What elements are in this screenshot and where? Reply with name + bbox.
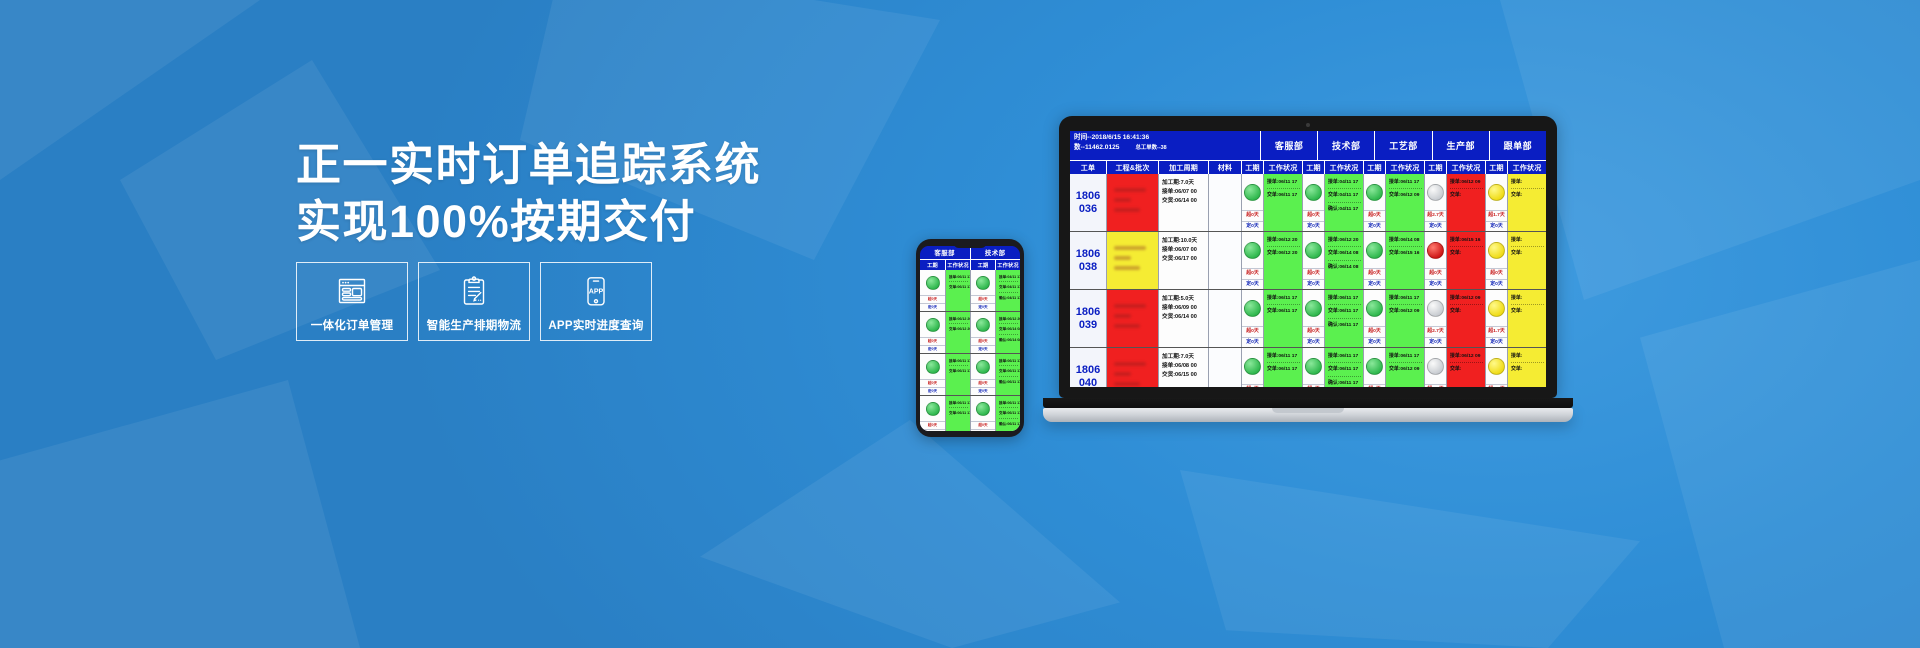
overdue-label: 超0天 [920, 421, 945, 429]
overdue-label: 超0天 [920, 337, 945, 345]
cycle-line: 交货:06/14 00 [1162, 313, 1206, 322]
dept-header-gendan[interactable]: 跟单部 [1489, 131, 1546, 160]
status-cell-生产部[interactable]: 接单:06/15 16交单: [1446, 232, 1485, 289]
material-cell[interactable] [1208, 232, 1241, 289]
duration-cell-客服部[interactable]: 超0天定0天 [1241, 232, 1263, 289]
col-header-status-3[interactable]: 工作状况 [1385, 161, 1424, 174]
order-number-bottom: 038 [1079, 261, 1097, 273]
status-line: 接单:06/12 20 [949, 316, 968, 324]
duration-cell-生产部[interactable]: 超2.7天定0天 [1424, 290, 1446, 347]
duration-cell-工艺部[interactable]: 超0天定0天 [1363, 290, 1385, 347]
status-line: 接单:06/12 20 [1328, 236, 1361, 247]
status-line: 接单:06/14 08 [1389, 236, 1422, 247]
phone-col-status-2: 工作状况 [995, 260, 1020, 270]
phone-col-gongqi-2: 工期 [970, 260, 995, 270]
overdue-label: 超0天 [971, 295, 995, 303]
status-line: 接单:06/11 17 [949, 358, 968, 366]
status-dot-green [1244, 358, 1261, 375]
processing-cycle-cell[interactable]: 加工期:10.0天接单:06/07 00交货:06/17 00 [1158, 232, 1208, 289]
status-line: 接单:06/15 16 [1450, 236, 1483, 247]
status-line: 接单:06/11 17 [1267, 352, 1300, 363]
cycle-line: 加工期:7.0天 [1162, 353, 1206, 362]
fixed-days-label: 定0天 [1242, 279, 1263, 289]
erp-topbar: 时间--2018/6/15 16:41:36 数--11462.0125 总工单… [1070, 131, 1546, 160]
phone-col-gongqi-1: 工期 [920, 260, 945, 270]
col-header-duration-1[interactable]: 工期 [1241, 161, 1263, 174]
overdue-label: 超0天 [1364, 268, 1385, 278]
status-cell-生产部[interactable]: 接单:06/12 09交单: [1446, 174, 1485, 231]
status-dot-green [976, 318, 990, 332]
dept-header-shengchan[interactable]: 生产部 [1432, 131, 1489, 160]
fixed-days-label: 定0天 [1364, 337, 1385, 347]
fixed-days-label: 定0天 [920, 303, 945, 311]
status-line: 交单:06/12 09 [1389, 191, 1422, 201]
status-line: 接单:06/11 17 [1389, 178, 1422, 189]
webcam-icon [1306, 123, 1310, 127]
status-line: 接单: [1511, 352, 1544, 363]
status-dot-green [976, 360, 990, 374]
status-line: 交单: [1511, 249, 1544, 259]
status-line: 接单:06/12 20 [1267, 236, 1300, 247]
overdue-label: 超0天 [920, 379, 945, 387]
status-line: 交单: [1450, 191, 1483, 201]
project-text-redacted [1114, 382, 1140, 386]
status-cell-跟单部[interactable]: 接单:交单: [1507, 232, 1546, 289]
status-dot-green [1366, 300, 1383, 317]
overdue-label: 超2.7天 [1425, 210, 1446, 220]
material-cell[interactable] [1208, 290, 1241, 347]
laptop-mockup: 时间--2018/6/15 16:41:36 数--11462.0125 总工单… [1043, 116, 1573, 422]
table-row[interactable]: 1806038加工期:10.0天接单:06/07 00交货:06/17 00超0… [1070, 232, 1546, 290]
status-line: 接单:06/12 09 [1450, 294, 1483, 305]
status-cell-跟单部[interactable]: 接单:交单: [1507, 174, 1546, 231]
status-line: 接单:04/11 17 [999, 274, 1018, 282]
overdue-label: 超0天 [1303, 326, 1324, 336]
status-dot-green [926, 318, 940, 332]
project-text-redacted [1114, 198, 1131, 202]
status-line: 交单:06/12 20 [949, 326, 968, 333]
dept-header-kefu[interactable]: 客服部 [1260, 131, 1317, 160]
laptop-trackpad-notch [1272, 408, 1344, 413]
project-text-redacted [1114, 372, 1131, 376]
status-cell-客服部[interactable]: 接单:06/11 17交单:06/11 17 [1263, 290, 1302, 347]
fixed-days-label: 定0天 [1425, 279, 1446, 289]
duration-cell-工艺部[interactable]: 超0天定1天 [1363, 348, 1385, 387]
status-line: 确认:04/11 17 [999, 295, 1018, 302]
status-cell-技术部[interactable]: 接单:04/11 17交单:04/11 17确认:04/11 17 [995, 270, 1020, 311]
status-dot-green [926, 402, 940, 416]
status-dot-green [1366, 184, 1383, 201]
status-cell-工艺部[interactable]: 接单:06/11 17交单:06/12 09 [1385, 174, 1424, 231]
material-cell[interactable] [1208, 174, 1241, 231]
duration-cell-技术部[interactable]: 超0天定0天 [1302, 174, 1324, 231]
order-number-bottom: 039 [1079, 319, 1097, 331]
fixed-days-label: 定0天 [971, 303, 995, 311]
status-dot-gray [1427, 358, 1444, 375]
processing-cycle-cell[interactable]: 加工期:7.0天接单:06/08 00交货:06/15 00 [1158, 348, 1208, 387]
status-line: 交单:06/11 17 [1328, 307, 1361, 318]
project-batch-cell[interactable] [1106, 348, 1158, 387]
status-line: 接单:06/11 17 [1389, 294, 1422, 305]
fixed-days-label: 定0天 [971, 387, 995, 395]
fixed-days-label: 定0天 [1486, 279, 1507, 289]
status-dot-green [1305, 184, 1322, 201]
status-line: 接单:04/11 17 [1328, 178, 1361, 189]
status-line: 接单:06/12 09 [1450, 352, 1483, 363]
table-row[interactable]: 1806040加工期:7.0天接单:06/08 00交货:06/15 00超0天… [1070, 348, 1546, 387]
project-text-redacted [1114, 362, 1146, 366]
status-line: 确认:06/14 08 [1328, 263, 1361, 273]
status-line: 确认:06/11 17 [1328, 321, 1361, 331]
duration-cell-技术部[interactable]: 超0天定0天 [1302, 290, 1324, 347]
overdue-label: 超0天 [1364, 384, 1385, 387]
erp-meta: 时间--2018/6/15 16:41:36 数--11462.0125 总工单… [1070, 131, 1260, 160]
fixed-days-label: 定0天 [1242, 337, 1263, 347]
cycle-line: 加工期:7.0天 [1162, 179, 1206, 188]
status-line: 交单:06/11 17 [1267, 307, 1300, 317]
overdue-label: 超0天 [971, 337, 995, 345]
status-cell-技术部[interactable]: 接单:06/11 17交单:06/11 17确认:06/11 17 [995, 354, 1020, 395]
status-dot-green [926, 276, 940, 290]
fixed-days-label: 定0天 [1364, 279, 1385, 289]
fixed-days-label: 定0天 [1242, 221, 1263, 231]
status-cell-客服部[interactable]: 接单:06/11 17交单:06/11 17 [945, 396, 970, 431]
overdue-label: 超1.7天 [1486, 210, 1507, 220]
status-line: 交单:06/11 17 [949, 410, 968, 417]
status-cell-技术部[interactable]: 接单:06/11 17交单:06/11 17确认:06/11 17 [1324, 290, 1363, 347]
erp-department-headers: 客服部 技术部 工艺部 生产部 跟单部 [1260, 131, 1546, 160]
col-header-duration-3[interactable]: 工期 [1363, 161, 1385, 174]
duration-cell-技术部[interactable]: 超0天定4天 [1302, 348, 1324, 387]
duration-cell-跟单部[interactable]: 超0天定0天 [1485, 232, 1507, 289]
overdue-label: 超0天 [1303, 384, 1324, 387]
status-line: 交单:06/14 08 [1328, 249, 1361, 260]
overdue-label: 超1.7天 [1486, 326, 1507, 336]
erp-number-label: 数--11462.0125 [1074, 143, 1119, 153]
fixed-days-label: 定0天 [920, 387, 945, 395]
erp-time-label: 时间--2018/6/15 16:41:36 [1074, 133, 1257, 143]
phone-table-body[interactable]: 超0天定0天接单:06/11 17交单:06/11 17超0天定0天接单:04/… [920, 270, 1020, 431]
status-line: 确认:04/11 17 [1328, 205, 1361, 215]
project-text-redacted [1114, 246, 1146, 250]
status-line: 接单:06/11 17 [999, 358, 1018, 366]
status-cell-生产部[interactable]: 接单:06/12 09交单: [1446, 348, 1485, 387]
status-cell-生产部[interactable]: 接单:06/12 09交单: [1446, 290, 1485, 347]
device-mockups: 客服部 技术部 工期 工作状况 工期 工作状况 超0天定0天接单:06/11 1… [0, 0, 1920, 648]
laptop-lid: 时间--2018/6/15 16:41:36 数--11462.0125 总工单… [1059, 116, 1557, 398]
status-line: 交单: [1511, 191, 1544, 201]
col-header-material[interactable]: 材料 [1208, 161, 1241, 174]
order-number-cell[interactable]: 1806038 [1070, 232, 1106, 289]
status-cell-跟单部[interactable]: 接单:交单: [1507, 348, 1546, 387]
cycle-line: 交货:06/17 00 [1162, 255, 1206, 264]
status-line: 交单:06/11 17 [1267, 191, 1300, 201]
phone-table-row[interactable]: 超0天定1天接单:06/11 17交单:06/11 17超0天定4天接单:06/… [920, 396, 1020, 431]
status-line: 交单:06/11 17 [999, 368, 1018, 376]
fixed-days-label: 定1天 [920, 429, 945, 431]
material-cell[interactable] [1208, 348, 1241, 387]
fixed-days-label: 定0天 [1303, 279, 1324, 289]
overdue-label: 超0天 [1303, 268, 1324, 278]
status-dot-green [1305, 242, 1322, 259]
project-batch-cell[interactable] [1106, 290, 1158, 347]
col-header-cycle[interactable]: 加工周期 [1158, 161, 1208, 174]
duration-cell-客服部[interactable]: 超0天定1天 [920, 396, 945, 431]
fixed-days-label: 定0天 [1303, 337, 1324, 347]
order-number-bottom: 036 [1079, 203, 1097, 215]
duration-cell-生产部[interactable]: 超0天定0天 [1424, 232, 1446, 289]
cycle-line: 接单:06/07 00 [1162, 246, 1206, 255]
laptop-base [1043, 408, 1573, 422]
processing-cycle-cell[interactable]: 加工期:5.0天接单:06/09 00交货:06/14 00 [1158, 290, 1208, 347]
status-line: 接单: [1511, 178, 1544, 189]
duration-cell-跟单部[interactable]: 超1.7天定0天 [1485, 290, 1507, 347]
table-row[interactable]: 1806036加工期:7.0天接单:06/07 00交货:06/14 00超0天… [1070, 174, 1546, 232]
overdue-label: 超0天 [1242, 326, 1263, 336]
status-dot-gray [1427, 184, 1444, 201]
status-line: 接单:06/11 17 [949, 400, 968, 408]
dept-header-jishu[interactable]: 技术部 [1317, 131, 1374, 160]
duration-cell-客服部[interactable]: 超0天定1天 [1241, 348, 1263, 387]
promo-banner: 正一实时订单追踪系统 实现100%按期交付 一体化订单管理 [0, 0, 1920, 648]
duration-cell-生产部[interactable]: 超2.7天定0天 [1424, 174, 1446, 231]
overdue-label: 超0天 [971, 379, 995, 387]
col-header-status-2[interactable]: 工作状况 [1324, 161, 1363, 174]
duration-cell-技术部[interactable]: 超0天定0天 [1302, 232, 1324, 289]
status-line: 交单:06/11 17 [1267, 365, 1300, 375]
status-line: 交单:06/11 17 [1328, 365, 1361, 376]
status-line: 确认:06/11 17 [999, 421, 1018, 428]
status-line: 交单:04/11 17 [1328, 191, 1361, 202]
col-header-status-5[interactable]: 工作状况 [1507, 161, 1546, 174]
col-header-duration-5[interactable]: 工期 [1485, 161, 1507, 174]
overdue-label: 超0天 [1364, 326, 1385, 336]
status-dot-green [1305, 300, 1322, 317]
order-number-top: 1806 [1076, 364, 1100, 376]
order-number-top: 1806 [1076, 248, 1100, 260]
status-cell-工艺部[interactable]: 接单:06/11 17交单:06/12 09 [1385, 290, 1424, 347]
overdue-label: 超2.7天 [1425, 326, 1446, 336]
fixed-days-label: 定0天 [1425, 337, 1446, 347]
overdue-label: 超0天 [1364, 210, 1385, 220]
project-batch-cell[interactable] [1106, 174, 1158, 231]
status-dot-green [976, 402, 990, 416]
status-cell-客服部[interactable]: 接单:06/12 20交单:06/12 20 [1263, 232, 1302, 289]
order-number-cell[interactable]: 1806040 [1070, 348, 1106, 387]
status-cell-跟单部[interactable]: 接单:交单: [1507, 290, 1546, 347]
status-dot-green [926, 360, 940, 374]
col-header-project[interactable]: 工程&批次 [1106, 161, 1158, 174]
duration-cell-跟单部[interactable]: 超1.7天定0天 [1485, 174, 1507, 231]
order-number-cell[interactable]: 1806036 [1070, 174, 1106, 231]
cycle-line: 交货:06/14 00 [1162, 197, 1206, 206]
status-line: 接单:06/11 17 [1328, 294, 1361, 305]
overdue-label: 超0天 [1242, 210, 1263, 220]
phone-col-status-1: 工作状况 [945, 260, 970, 270]
status-dot-green [1366, 242, 1383, 259]
table-row[interactable]: 1806039加工期:5.0天接单:06/09 00交货:06/14 00超0天… [1070, 290, 1546, 348]
cycle-line: 加工期:5.0天 [1162, 295, 1206, 304]
col-header-status-1[interactable]: 工作状况 [1263, 161, 1302, 174]
order-number-top: 1806 [1076, 306, 1100, 318]
status-dot-yellow [1488, 242, 1505, 259]
phone-table-row[interactable]: 超0天定0天接单:06/11 17交单:06/11 17超0天定0天接单:04/… [920, 270, 1020, 312]
status-dot-yellow [1488, 184, 1505, 201]
status-line: 接单:06/12 20 [999, 316, 1018, 324]
duration-cell-技术部[interactable]: 超0天定0天 [970, 354, 995, 395]
status-line: 交单:06/12 09 [1389, 365, 1422, 375]
duration-cell-客服部[interactable]: 超0天定0天 [1241, 174, 1263, 231]
status-line: 交单: [1511, 307, 1544, 317]
duration-cell-客服部[interactable]: 超0天定0天 [1241, 290, 1263, 347]
status-line: 交单:04/11 17 [999, 284, 1018, 292]
status-dot-red [1427, 242, 1444, 259]
phone-mockup: 客服部 技术部 工期 工作状况 工期 工作状况 超0天定0天接单:06/11 1… [916, 239, 1024, 437]
status-line: 交单: [1511, 365, 1544, 375]
status-line: 接单:06/11 17 [949, 274, 968, 282]
cycle-line: 接单:06/09 00 [1162, 304, 1206, 313]
project-text-redacted [1114, 266, 1140, 270]
status-line: 交单:06/11 17 [949, 284, 968, 291]
duration-cell-工艺部[interactable]: 超0天定0天 [1363, 232, 1385, 289]
duration-cell-客服部[interactable]: 超0天定0天 [920, 312, 945, 353]
erp-table-body[interactable]: 1806036加工期:7.0天接单:06/07 00交货:06/14 00超0天… [1070, 174, 1546, 387]
status-cell-客服部[interactable]: 接单:06/11 17交单:06/11 17 [945, 354, 970, 395]
project-text-redacted [1114, 256, 1131, 260]
phone-notch [953, 242, 987, 248]
processing-cycle-cell[interactable]: 加工期:7.0天接单:06/07 00交货:06/14 00 [1158, 174, 1208, 231]
status-cell-客服部[interactable]: 接单:06/11 17交单:06/11 17 [945, 270, 970, 311]
status-line: 交单: [1450, 307, 1483, 317]
phone-subheader: 工期 工作状况 工期 工作状况 [920, 259, 1020, 270]
status-cell-技术部[interactable]: 接单:06/11 17交单:06/11 17确认:06/11 17 [1324, 348, 1363, 387]
status-line: 交单:06/11 17 [949, 368, 968, 375]
fixed-days-label: 定0天 [971, 345, 995, 353]
status-line: 交单:06/12 20 [1267, 249, 1300, 259]
cycle-line: 加工期:10.0天 [1162, 237, 1206, 246]
order-number-bottom: 040 [1079, 377, 1097, 388]
overdue-label: 超0天 [1242, 268, 1263, 278]
order-number-cell[interactable]: 1806039 [1070, 290, 1106, 347]
cycle-line: 接单:06/07 00 [1162, 188, 1206, 197]
duration-cell-技术部[interactable]: 超0天定4天 [970, 396, 995, 431]
col-header-duration-4[interactable]: 工期 [1424, 161, 1446, 174]
overdue-label: 超1.7天 [1425, 384, 1446, 387]
order-number-top: 1806 [1076, 190, 1100, 202]
project-text-redacted [1114, 314, 1131, 318]
status-dot-gray [1427, 300, 1444, 317]
status-cell-客服部[interactable]: 接单:06/12 20交单:06/12 20 [945, 312, 970, 353]
project-text-redacted [1114, 304, 1146, 308]
project-text-redacted [1114, 208, 1140, 212]
status-line: 接单:06/12 09 [1450, 178, 1483, 189]
status-line: 接单:06/11 17 [1389, 352, 1422, 363]
status-dot-green [1244, 184, 1261, 201]
status-line: 交单: [1450, 249, 1483, 259]
status-line: 接单: [1511, 236, 1544, 247]
col-header-duration-2[interactable]: 工期 [1302, 161, 1324, 174]
phone-table-row[interactable]: 超0天定0天接单:06/11 17交单:06/11 17超0天定0天接单:06/… [920, 354, 1020, 396]
erp-total-orders-label: 总工单数--38 [1135, 144, 1166, 152]
cycle-line: 接单:06/08 00 [1162, 362, 1206, 371]
col-header-gongdan[interactable]: 工单 [1070, 161, 1106, 174]
status-line: 确认:06/11 17 [999, 379, 1018, 386]
overdue-label: 超0天 [971, 421, 995, 429]
status-dot-yellow [1488, 300, 1505, 317]
duration-cell-生产部[interactable]: 超1.7天定3天 [1424, 348, 1446, 387]
project-batch-cell[interactable] [1106, 232, 1158, 289]
status-line: 接单:06/11 17 [999, 400, 1018, 408]
dept-subheader-group: 工期工作状况工期工作状况工期工作状况工期工作状况工期工作状况 [1241, 161, 1546, 174]
status-dot-green [1305, 358, 1322, 375]
fixed-days-label: 定4天 [971, 429, 995, 431]
fixed-days-label: 定0天 [1486, 221, 1507, 231]
fixed-days-label: 定0天 [920, 345, 945, 353]
project-text-redacted [1114, 188, 1146, 192]
status-cell-工艺部[interactable]: 接单:06/11 17交单:06/12 09 [1385, 348, 1424, 387]
status-dot-green [1366, 358, 1383, 375]
overdue-label: 超0天 [1303, 210, 1324, 220]
status-line: 确认:06/14 08 [999, 337, 1018, 344]
status-dot-yellow [1488, 358, 1505, 375]
status-cell-工艺部[interactable]: 接单:06/14 08交单:06/15 16 [1385, 232, 1424, 289]
duration-cell-客服部[interactable]: 超0天定0天 [920, 354, 945, 395]
status-dot-green [1244, 300, 1261, 317]
status-line: 交单:06/12 09 [1389, 307, 1422, 317]
fixed-days-label: 定0天 [1364, 221, 1385, 231]
status-cell-客服部[interactable]: 接单:06/11 17交单:06/11 17 [1263, 348, 1302, 387]
status-line: 交单:06/11 17 [999, 410, 1018, 418]
duration-cell-技术部[interactable]: 超0天定0天 [970, 270, 995, 311]
status-line: 确认:06/11 17 [1328, 379, 1361, 387]
col-header-status-4[interactable]: 工作状况 [1446, 161, 1485, 174]
dept-header-gongyi[interactable]: 工艺部 [1374, 131, 1431, 160]
overdue-label: 超0天 [920, 295, 945, 303]
duration-cell-工艺部[interactable]: 超0天定0天 [1363, 174, 1385, 231]
overdue-label: 超0.7天 [1486, 384, 1507, 387]
laptop-hinge [1043, 398, 1573, 408]
status-line: 交单: [1450, 365, 1483, 375]
overdue-label: 超0天 [1486, 268, 1507, 278]
status-line: 接单: [1511, 294, 1544, 305]
duration-cell-跟单部[interactable]: 超0.7天定1天 [1485, 348, 1507, 387]
cycle-line: 交货:06/15 00 [1162, 371, 1206, 380]
project-text-redacted [1114, 324, 1140, 328]
phone-table-row[interactable]: 超0天定0天接单:06/12 20交单:06/12 20超0天定0天接单:06/… [920, 312, 1020, 354]
status-line: 接单:06/11 17 [1267, 294, 1300, 305]
status-line: 接单:06/11 17 [1267, 178, 1300, 189]
fixed-days-label: 定0天 [1303, 221, 1324, 231]
status-cell-技术部[interactable]: 接单:06/11 17交单:06/11 17确认:06/11 17 [995, 396, 1020, 431]
status-dot-green [1244, 242, 1261, 259]
overdue-label: 超0天 [1242, 384, 1263, 387]
status-cell-客服部[interactable]: 接单:06/11 17交单:06/11 17 [1263, 174, 1302, 231]
status-dot-green [976, 276, 990, 290]
status-cell-技术部[interactable]: 接单:06/12 20交单:06/14 08确认:06/14 08 [1324, 232, 1363, 289]
fixed-days-label: 定0天 [1486, 337, 1507, 347]
erp-column-headers: 工单 工程&批次 加工周期 材料 工期工作状况工期工作状况工期工作状况工期工作状… [1070, 160, 1546, 174]
fixed-days-label: 定0天 [1425, 221, 1446, 231]
duration-cell-技术部[interactable]: 超0天定0天 [970, 312, 995, 353]
phone-screen[interactable]: 客服部 技术部 工期 工作状况 工期 工作状况 超0天定0天接单:06/11 1… [920, 246, 1020, 431]
overdue-label: 超0天 [1425, 268, 1446, 278]
status-line: 交单:06/14 08 [999, 326, 1018, 334]
status-line: 接单:06/11 17 [1328, 352, 1361, 363]
status-cell-技术部[interactable]: 接单:06/12 20交单:06/14 08确认:06/14 08 [995, 312, 1020, 353]
duration-cell-客服部[interactable]: 超0天定0天 [920, 270, 945, 311]
status-cell-技术部[interactable]: 接单:04/11 17交单:04/11 17确认:04/11 17 [1324, 174, 1363, 231]
laptop-screen[interactable]: 时间--2018/6/15 16:41:36 数--11462.0125 总工单… [1070, 131, 1546, 387]
